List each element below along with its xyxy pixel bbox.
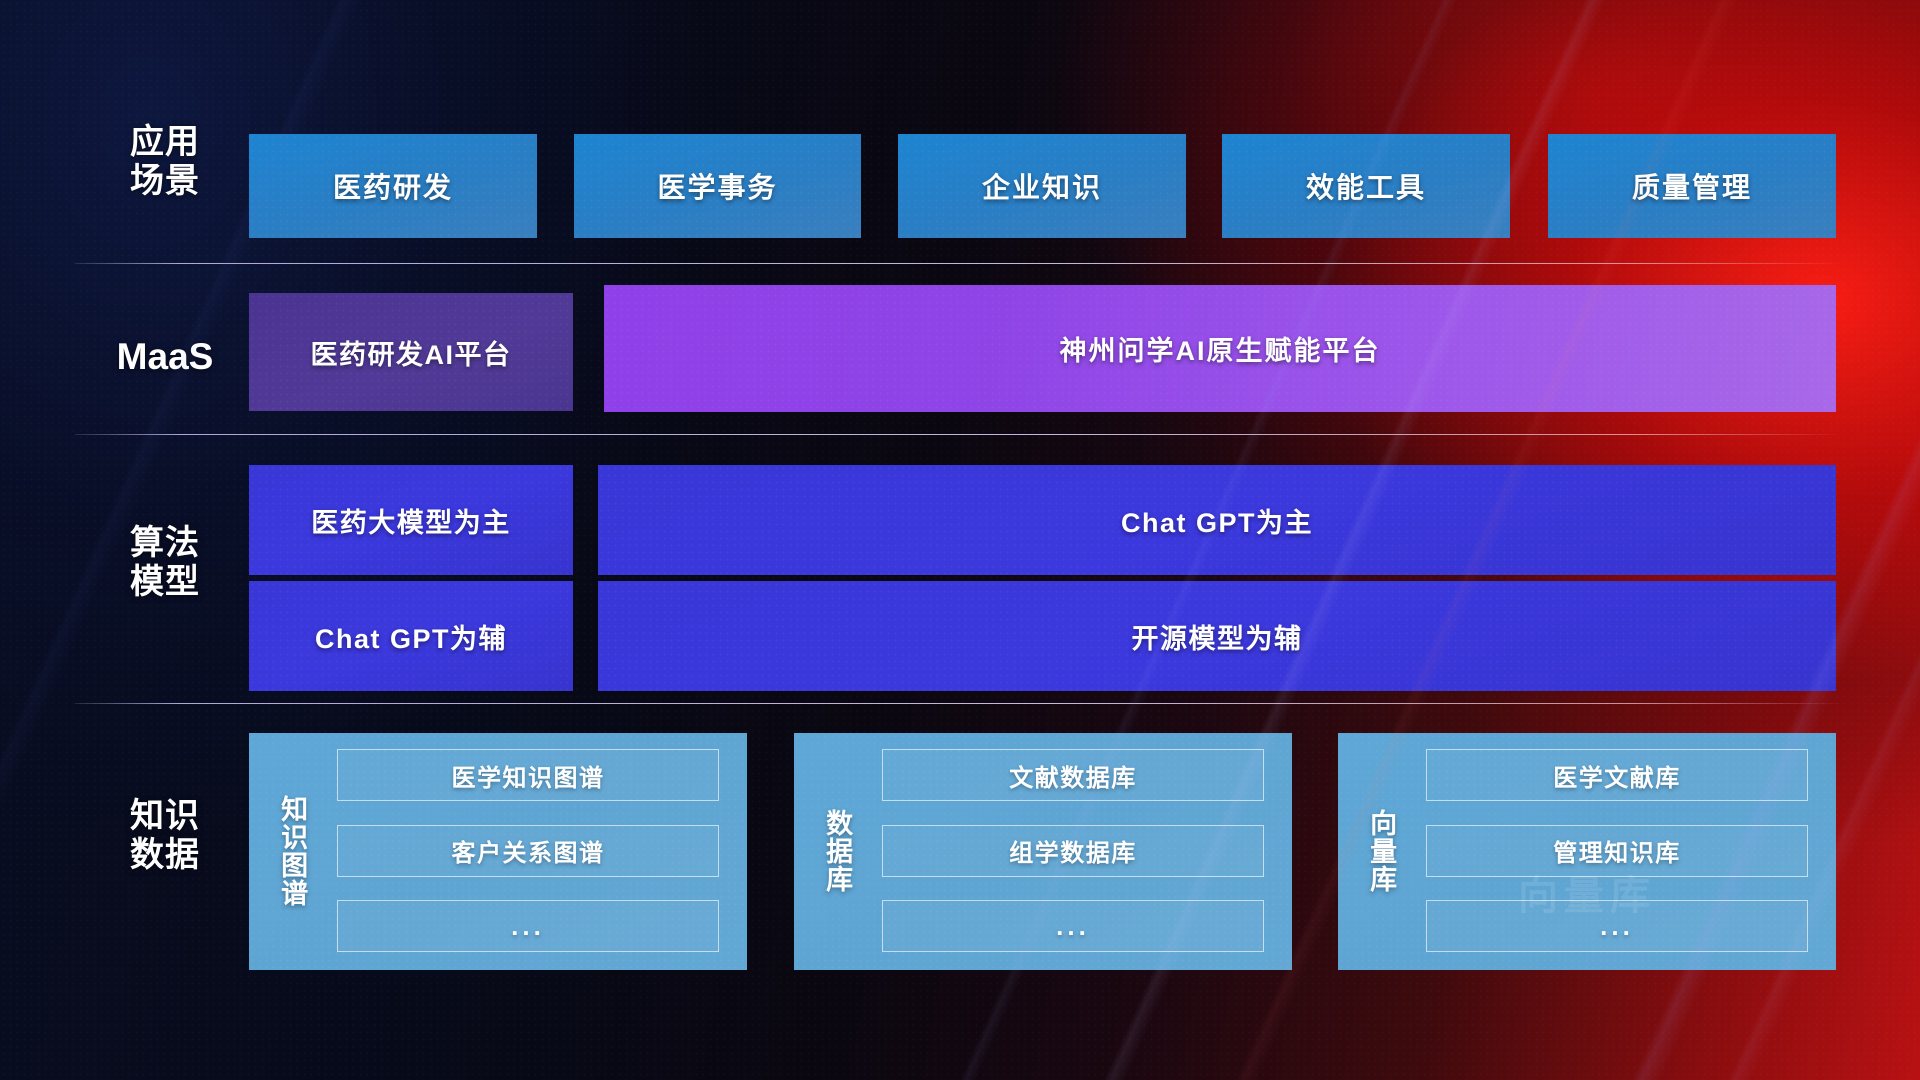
row-label-maas: MaaS bbox=[90, 336, 240, 379]
algorithm-box-opensource-secondary-label: 开源模型为辅 bbox=[1132, 617, 1303, 656]
scenario-box-1[interactable]: 医药研发 bbox=[249, 134, 537, 238]
divider-after-algorithms bbox=[75, 703, 1845, 704]
row-label-knowledge-data: 知识 数据 bbox=[90, 797, 240, 876]
scenario-box-3-label: 企业知识 bbox=[982, 166, 1102, 206]
knowledge-item-medical-literature-store[interactable]: 医学文献库 bbox=[1426, 749, 1808, 801]
scenario-box-2-label: 医学事务 bbox=[657, 166, 777, 206]
knowledge-item-more-3-label: ... bbox=[1600, 911, 1634, 942]
knowledge-item-literature-database[interactable]: 文献数据库 bbox=[882, 749, 1264, 801]
knowledge-panel-vector-store-items: 医学文献库 管理知识库 ... bbox=[1412, 743, 1824, 958]
knowledge-item-management-knowledge-store-label: 管理知识库 bbox=[1553, 833, 1681, 868]
knowledge-item-more-2-label: ... bbox=[1056, 911, 1090, 942]
scenario-box-1-label: 医药研发 bbox=[333, 166, 453, 206]
divider-after-maas bbox=[75, 434, 1845, 435]
knowledge-panel-knowledge-graph-title: 知识图谱 bbox=[261, 743, 323, 958]
row-label-algorithm-models: 算法 模型 bbox=[90, 524, 240, 603]
scenario-box-5-label: 质量管理 bbox=[1632, 166, 1752, 206]
knowledge-item-omics-database-label: 组学数据库 bbox=[1009, 833, 1137, 868]
knowledge-panel-database[interactable]: 数据库 文献数据库 组学数据库 ... bbox=[794, 733, 1292, 970]
knowledge-panel-vector-store-title: 向量库 bbox=[1350, 743, 1412, 958]
knowledge-panel-knowledge-graph-items: 医学知识图谱 客户关系图谱 ... bbox=[323, 743, 735, 958]
scenario-box-2[interactable]: 医学事务 bbox=[574, 134, 861, 238]
scenario-box-4-label: 效能工具 bbox=[1306, 166, 1426, 206]
knowledge-item-more-3[interactable]: ... bbox=[1426, 900, 1808, 952]
algorithm-box-chatgpt-secondary-label: Chat GPT为辅 bbox=[315, 617, 507, 656]
knowledge-panel-vector-store[interactable]: 向量库 向量库 医学文献库 管理知识库 ... bbox=[1338, 733, 1836, 970]
algorithm-box-chatgpt-secondary[interactable]: Chat GPT为辅 bbox=[249, 581, 573, 691]
maas-box-shenzhou-platform-label: 神州问学AI原生赋能平台 bbox=[1060, 329, 1381, 368]
maas-box-medical-ai-platform[interactable]: 医药研发AI平台 bbox=[249, 293, 573, 411]
maas-box-medical-ai-platform-label: 医药研发AI平台 bbox=[311, 333, 512, 372]
knowledge-item-medical-knowledge-graph-label: 医学知识图谱 bbox=[452, 758, 605, 793]
scenario-box-3[interactable]: 企业知识 bbox=[898, 134, 1186, 238]
maas-box-shenzhou-platform[interactable]: 神州问学AI原生赋能平台 bbox=[604, 285, 1836, 412]
algorithm-box-medical-large-model[interactable]: 医药大模型为主 bbox=[249, 465, 573, 575]
algorithm-box-opensource-secondary[interactable]: 开源模型为辅 bbox=[598, 581, 1836, 691]
algorithm-box-medical-large-model-label: 医药大模型为主 bbox=[311, 501, 511, 540]
scenario-box-5[interactable]: 质量管理 bbox=[1548, 134, 1836, 238]
knowledge-item-literature-database-label: 文献数据库 bbox=[1009, 758, 1137, 793]
algorithm-box-chatgpt-primary-label: Chat GPT为主 bbox=[1121, 501, 1313, 540]
algorithm-box-chatgpt-primary[interactable]: Chat GPT为主 bbox=[598, 465, 1836, 575]
scenario-box-4[interactable]: 效能工具 bbox=[1222, 134, 1510, 238]
row-label-application-scenarios: 应用 场景 bbox=[90, 123, 240, 202]
knowledge-item-more-2[interactable]: ... bbox=[882, 900, 1264, 952]
knowledge-panel-database-title: 数据库 bbox=[806, 743, 868, 958]
knowledge-item-customer-relation-graph-label: 客户关系图谱 bbox=[452, 833, 605, 868]
knowledge-item-medical-literature-store-label: 医学文献库 bbox=[1553, 758, 1681, 793]
divider-after-scenarios bbox=[75, 263, 1845, 264]
knowledge-item-customer-relation-graph[interactable]: 客户关系图谱 bbox=[337, 825, 719, 877]
knowledge-item-omics-database[interactable]: 组学数据库 bbox=[882, 825, 1264, 877]
diagram-canvas: 应用 场景 医药研发 医学事务 企业知识 效能工具 质量管理 MaaS 医药研发… bbox=[0, 0, 1920, 1080]
knowledge-item-management-knowledge-store[interactable]: 管理知识库 bbox=[1426, 825, 1808, 877]
knowledge-panel-knowledge-graph[interactable]: 知识图谱 医学知识图谱 客户关系图谱 ... bbox=[249, 733, 747, 970]
knowledge-item-medical-knowledge-graph[interactable]: 医学知识图谱 bbox=[337, 749, 719, 801]
knowledge-panel-database-items: 文献数据库 组学数据库 ... bbox=[868, 743, 1280, 958]
knowledge-item-more-1-label: ... bbox=[511, 911, 545, 942]
knowledge-item-more-1[interactable]: ... bbox=[337, 900, 719, 952]
